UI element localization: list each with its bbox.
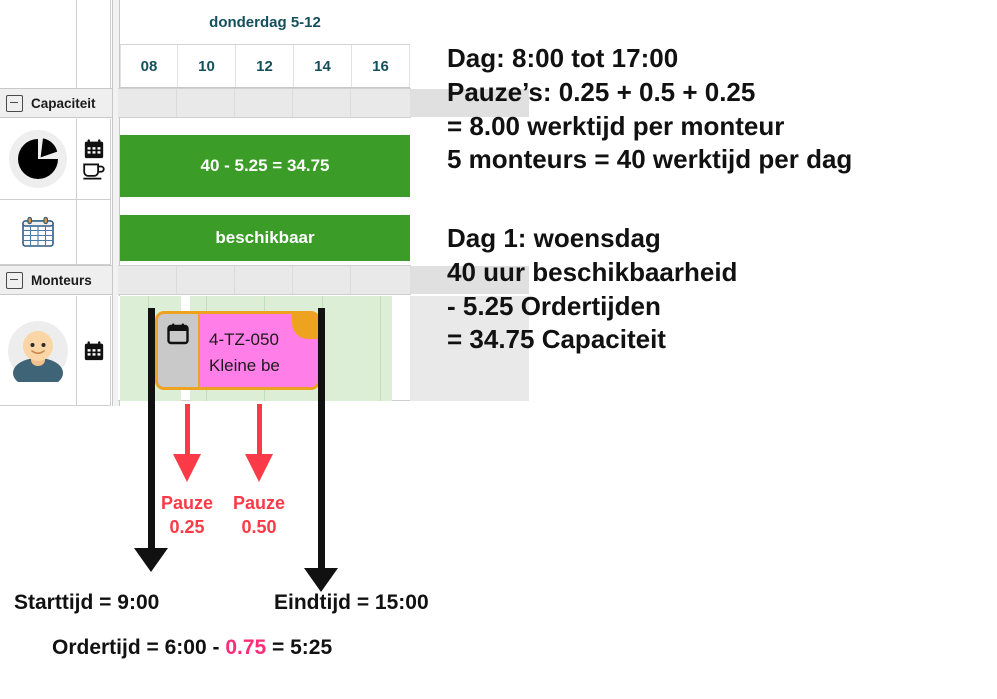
grid-corner-left <box>0 0 77 89</box>
grid-corner-icons <box>77 0 111 89</box>
pause2-value: 0.50 <box>214 515 304 539</box>
order-time-caption: Ordertijd = 6:00 - 0.75 = 5:25 <box>52 636 332 660</box>
hour-label-14: 14 <box>294 45 352 87</box>
day-header: donderdag 5-12 <box>120 0 410 45</box>
notes-line: 5 monteurs = 40 werktijd per dag <box>447 143 852 177</box>
grid-line <box>176 266 177 294</box>
grid-line <box>234 266 235 294</box>
pause2-label: Pauze 0.50 <box>214 491 304 540</box>
hour-label-10: 10 <box>178 45 236 87</box>
pie-chart-icon <box>9 130 67 188</box>
start-time-caption: Starttijd = 9:00 <box>14 591 159 615</box>
grid-line <box>292 89 293 117</box>
resource-icons-capacity <box>77 119 111 200</box>
order-drag-handle[interactable] <box>158 314 200 387</box>
notes-block-day1: Dag 1: woensdag 40 uur beschikbaarheid -… <box>447 222 737 357</box>
group-header-capaciteit[interactable]: Capaciteit <box>0 88 112 118</box>
notes-line: Dag: 8:00 tot 17:00 <box>447 42 852 76</box>
resource-icons-availability <box>77 200 111 265</box>
notes-block-workday: Dag: 8:00 tot 17:00 Pauze’s: 0.25 + 0.5 … <box>447 42 852 177</box>
group-header-monteurs[interactable]: Monteurs <box>0 265 112 295</box>
start-time-arrow-icon <box>134 548 168 572</box>
end-time-caption: Eindtijd = 15:00 <box>274 591 429 615</box>
resource-cell-monteur <box>0 296 77 406</box>
avatar-icon <box>7 320 69 382</box>
resource-cell-availability <box>0 200 77 265</box>
pause2-arrow-icon <box>245 454 273 482</box>
hour-header-row: 08 10 12 14 16 <box>120 45 410 88</box>
capacity-row-gap <box>120 119 410 135</box>
collapse-minus-icon[interactable] <box>6 95 23 112</box>
calendar-icon[interactable] <box>83 340 105 362</box>
order-time-highlight: 0.75 <box>225 636 266 659</box>
group-label-monteurs: Monteurs <box>31 273 92 288</box>
end-time-marker-line <box>318 308 325 571</box>
calendar-icon[interactable] <box>83 138 105 160</box>
calendar-color-icon <box>21 216 55 248</box>
hour-label-16: 16 <box>352 45 410 87</box>
pause1-arrow-line <box>185 404 190 456</box>
hour-label-12: 12 <box>236 45 294 87</box>
grid-line <box>350 266 351 294</box>
notes-line: = 34.75 Capaciteit <box>447 323 737 357</box>
grid-line <box>380 296 381 401</box>
notes-line: - 5.25 Ordertijden <box>447 290 737 324</box>
notes-line: = 8.00 werktijd per monteur <box>447 110 852 144</box>
resource-cell-capacity <box>0 119 77 200</box>
capacity-bar-calculation[interactable]: 40 - 5.25 = 34.75 <box>120 135 410 197</box>
grid-line <box>350 89 351 117</box>
grid-line <box>234 89 235 117</box>
order-description: Kleine be <box>209 355 311 376</box>
pause2-title: Pauze <box>214 491 304 515</box>
order-time-suffix: = 5:25 <box>266 636 332 659</box>
group-label-capaciteit: Capaciteit <box>31 96 96 111</box>
grid-line <box>292 266 293 294</box>
notes-line: Pauze’s: 0.25 + 0.5 + 0.25 <box>447 76 852 110</box>
capacity-row-gap <box>120 197 410 215</box>
grid-line <box>176 89 177 117</box>
planning-grid: donderdag 5-12 08 10 12 14 16 Capaciteit <box>0 0 411 406</box>
pause2-arrow-line <box>257 404 262 456</box>
order-block[interactable]: 4-TZ-050 Kleine be <box>155 311 320 390</box>
calendar-icon <box>166 322 190 346</box>
capacity-bar-available[interactable]: beschikbaar <box>120 215 410 261</box>
group-band-capaciteit <box>118 88 411 118</box>
coffee-cup-icon[interactable] <box>82 162 106 180</box>
collapse-minus-icon[interactable] <box>6 272 23 289</box>
order-time-prefix: Ordertijd = 6:00 - <box>52 636 225 659</box>
notes-line: 40 uur beschikbaarheid <box>447 256 737 290</box>
group-band-monteurs <box>118 265 411 295</box>
end-time-arrow-icon <box>304 568 338 592</box>
notes-line: Dag 1: woensdag <box>447 222 737 256</box>
hour-label-08: 08 <box>120 45 178 87</box>
resource-icons-monteur <box>77 296 111 406</box>
pause1-arrow-icon <box>173 454 201 482</box>
